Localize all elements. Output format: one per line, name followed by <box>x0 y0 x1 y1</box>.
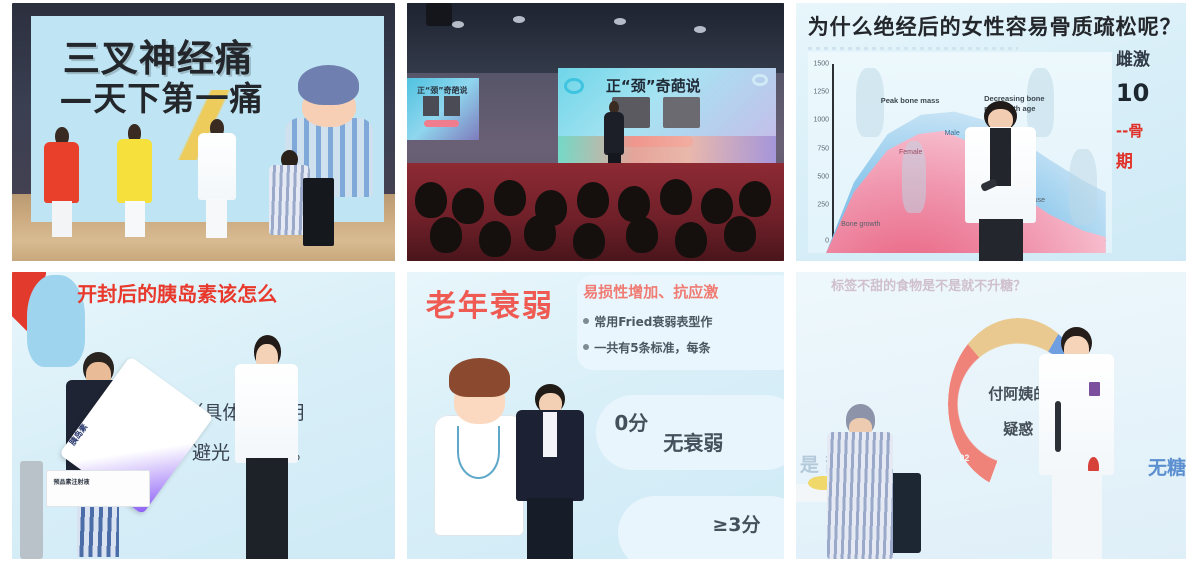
gallery-tile-frailty[interactable]: 老年衰弱 易损性增加、抗应激 常用Fried衰弱表型作 一共有5条标准，每条 0… <box>407 272 784 559</box>
bone-mass-chart: 1500 1250 1000 750 500 250 0 Peak bone m… <box>808 52 1112 253</box>
ceiling-light-icon <box>694 26 706 33</box>
osteoporosis-slide-scene: 为什么绝经后的女性容易骨质疏松呢？ 1500 1250 1000 750 500… <box>796 3 1186 261</box>
main-screen-title: 正“颈”奇葩说 <box>606 75 701 96</box>
name-badge <box>1089 382 1100 396</box>
slide-answer-text: 无糖 <box>1148 453 1186 480</box>
gallery-tile-sugar-free[interactable]: 标签不甜的食物是不是就不升糖？ 01 02 付阿姨的 疑惑 是 甜的？ 无糖 <box>796 272 1186 559</box>
spotlight-icon <box>426 3 452 26</box>
microphone-icon <box>1055 401 1061 452</box>
performer-red <box>43 127 81 235</box>
y-tick: 750 <box>817 145 832 152</box>
side-line-1: 雌激 <box>1116 45 1150 70</box>
bullet-dot-icon <box>583 344 589 350</box>
body-silhouette-icon <box>1069 149 1096 225</box>
score-value-0: 0分 <box>614 407 648 436</box>
chair <box>303 178 334 245</box>
body-silhouette-icon <box>856 68 883 136</box>
audience-heads <box>407 163 784 261</box>
ceiling-light-icon <box>513 16 525 23</box>
prop-box-label: 预品素注射液 <box>54 477 90 486</box>
presenter <box>516 384 584 559</box>
photo-gallery-grid: 三叉神经痛 —天下第一痛 <box>0 0 1202 564</box>
side-led-screen: 正“颈”奇葩说 <box>407 78 479 140</box>
bullet-dot-icon <box>583 318 589 324</box>
medicine-box-prop: 预品素注射液 <box>46 470 149 507</box>
gallery-tile-osteoporosis[interactable]: 为什么绝经后的女性容易骨质疏松呢？ 1500 1250 1000 750 500… <box>796 3 1186 261</box>
slide-title-highlight: 开封后的胰岛素该怎么 <box>77 282 277 306</box>
gear-icon <box>752 74 767 86</box>
side-line-3: --骨 <box>1116 120 1143 141</box>
performer-white-coat <box>196 119 238 235</box>
auditorium-scene: 正“颈”奇葩说 正“颈”奇葩说 <box>407 3 784 261</box>
slide-info-card: 易损性增加、抗应激 常用Fried衰弱表型作 一共有5条标准，每条 <box>577 275 784 370</box>
y-tick: 500 <box>817 173 832 180</box>
y-tick: 1250 <box>813 89 832 96</box>
presenter <box>964 101 1038 261</box>
performer-yellow <box>115 124 153 235</box>
score-value-1: ≥3分 <box>712 510 760 537</box>
chart-annotation-growth: Bone growth <box>841 221 880 229</box>
chart-annotation-male: Male <box>945 130 960 137</box>
presenter-female <box>234 335 299 559</box>
insulin-slide-scene: 开封后的胰岛素该怎么 （具体 品说明 避光 避震荡。 胰岛素 预品素注射液 <box>12 272 395 559</box>
card-bullet-2: 一共有5条标准，每条 <box>583 339 710 356</box>
chart-annotation-female: Female <box>899 149 922 156</box>
xray-image-right <box>663 97 700 128</box>
slide-title: 开封后的胰岛素该怎么 <box>77 278 277 307</box>
y-tick: 1500 <box>813 61 832 68</box>
gallery-tile-trigeminal-neuralgia[interactable]: 三叉神经痛 —天下第一痛 <box>12 3 395 261</box>
gear-icon <box>564 78 584 95</box>
gallery-tile-insulin[interactable]: 开封后的胰岛素该怎么 （具体 品说明 避光 避震荡。 胰岛素 预品素注射液 <box>12 272 395 559</box>
score-meaning-0: 无衰弱 <box>663 427 723 456</box>
ceiling <box>407 3 784 73</box>
seated-patient <box>827 404 893 559</box>
ring-number-02: 02 <box>959 453 969 463</box>
stage-scene: 三叉神经痛 —天下第一痛 <box>12 3 395 261</box>
y-tick: 1000 <box>813 117 832 124</box>
gallery-tile-neck-debate[interactable]: 正“颈”奇葩说 正“颈”奇葩说 <box>407 3 784 261</box>
slide-side-text: 雌激 10 --骨 期 <box>1112 39 1186 194</box>
side-line-4: 期 <box>1116 147 1133 172</box>
card-title: 易损性增加、抗应激 <box>583 281 718 302</box>
main-led-screen: 正“颈”奇葩说 <box>558 68 777 171</box>
side-screen-title: 正“颈”奇葩说 <box>417 85 468 96</box>
card-bullet-1: 常用Fried衰弱表型作 <box>583 313 712 330</box>
slide-subtitle: —天下第一痛 <box>59 72 263 120</box>
frailty-slide-scene: 老年衰弱 易损性增加、抗应激 常用Fried衰弱表型作 一共有5条标准，每条 0… <box>407 272 784 559</box>
cartoon-doctor-icon <box>430 358 528 536</box>
divider <box>808 47 1019 50</box>
chart-y-axis <box>832 64 834 241</box>
slide-title: 标签不甜的食物是不是就不升糖？ <box>831 275 1026 294</box>
y-tick: 250 <box>817 201 832 208</box>
chart-annotation-peak: Peak bone mass <box>881 96 940 105</box>
slide-title: 老年衰弱 <box>426 281 554 325</box>
suitcase-prop <box>20 461 43 559</box>
sugar-free-slide-scene: 标签不甜的食物是不是就不升糖？ 01 02 付阿姨的 疑惑 是 甜的？ 无糖 <box>796 272 1186 559</box>
nurse-presenter <box>1038 327 1116 559</box>
side-line-2: 10 <box>1116 79 1149 107</box>
